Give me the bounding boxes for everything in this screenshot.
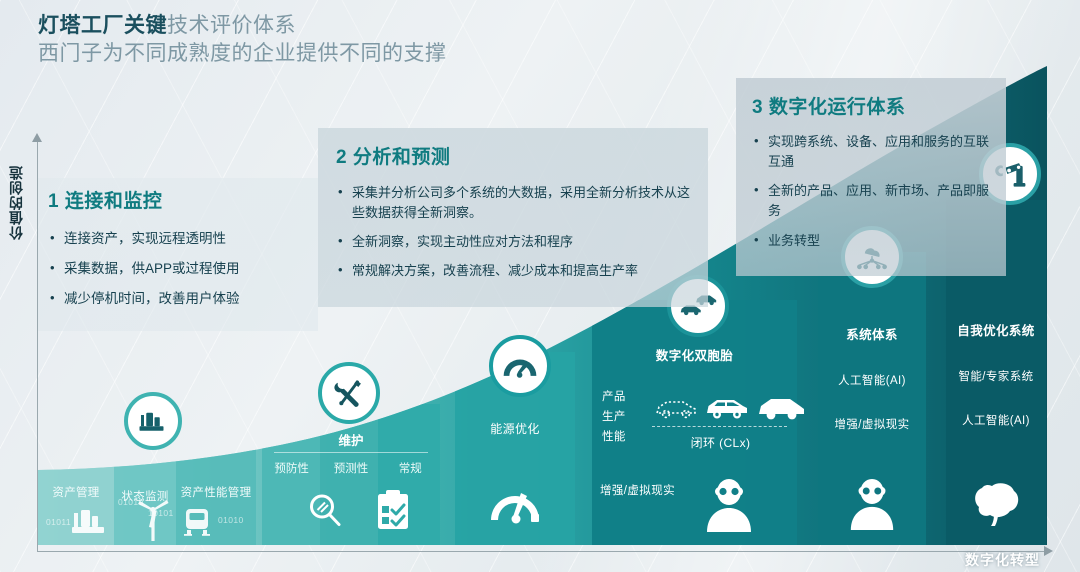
band-system-architecture: 系统体系 人工智能(AI) 增强/虚拟现实: [818, 252, 926, 546]
band-maintenance: 维护 预防性 预测性 常规: [262, 412, 440, 545]
band-title: 能源优化: [455, 420, 575, 437]
closed-loop-label: 闭环 (CLx): [650, 434, 791, 451]
band-condition-monitoring: 状态监测 01010: [114, 436, 176, 549]
stage-2-bullet-3: 常规解决方案，改善流程、减少成本和提高生产率: [336, 261, 692, 281]
stage-1-title: 1 连接和监控: [48, 186, 308, 213]
x-axis-arrow: [1044, 546, 1053, 556]
band-title: 系统体系: [818, 324, 926, 343]
x-axis-line: [37, 551, 1047, 552]
stage-3-bullets: 实现跨系统、设备、应用和服务的互联互通 全新的产品、应用、新市场、产品即服务 业…: [752, 132, 992, 251]
band-sub-routine: 常规: [381, 460, 440, 476]
stage-3-panel: 3 数字化运行体系 实现跨系统、设备、应用和服务的互联互通 全新的产品、应用、新…: [736, 78, 1006, 276]
band-asset-management: 资产管理 01011: [38, 432, 114, 545]
train-icon: [180, 505, 214, 539]
row-label-production: 生产: [602, 408, 646, 424]
car-solid-icon: [757, 394, 807, 422]
stage-2-panel: 2 分析和预测 采集并分析公司多个系统的大数据，采用全新分析技术从这些数据获得全…: [318, 128, 708, 307]
car-outline-icon: [704, 395, 750, 421]
y-axis-arrow: [32, 133, 42, 142]
band-asset-performance-management: 资产性能管理 01010: [176, 432, 256, 545]
band-sub-predictive: 预测性: [321, 460, 380, 476]
binary-decoration-extra: 10101: [148, 508, 174, 518]
stage-1-panel: 1 连接和监控 连接资产，实现远程透明性 采集数据，供APP或过程使用 减少停机…: [38, 178, 318, 331]
stage-1-bullet-3: 减少停机时间，改善用户体验: [48, 289, 308, 310]
stage-3-bullet-1: 实现跨系统、设备、应用和服务的互联互通: [752, 132, 992, 172]
row-label-product: 产品: [602, 388, 646, 404]
band-item-expert: 智能/专家系统: [946, 368, 1046, 384]
factory-icon: [138, 409, 168, 433]
stage-2-bullet-1: 采集并分析公司多个系统的大数据，采用全新分析技术从这些数据获得全新洞察。: [336, 183, 692, 223]
vr-person-icon: [846, 476, 898, 532]
band-item-ai: 人工智能(AI): [946, 412, 1046, 428]
row-label-performance: 性能: [602, 428, 646, 444]
stage-1-bullet-1: 连接资产，实现远程透明性: [48, 229, 308, 250]
band-title: 数字化双胞胎: [592, 345, 797, 364]
stage-2-bullet-2: 全新洞察，实现主动性应对方法和程序: [336, 232, 692, 252]
band-item-arvr: 增强/虚拟现实: [818, 416, 926, 432]
stage-3-title: 3 数字化运行体系: [752, 92, 992, 119]
binary-decoration: 01011: [46, 517, 71, 527]
band-item-ai: 人工智能(AI): [818, 372, 926, 388]
badge-maintenance-tools[interactable]: [318, 362, 380, 424]
clipboard-check-icon: [374, 489, 412, 531]
tools-icon: [332, 376, 366, 410]
stage-1-bullets: 连接资产，实现远程透明性 采集数据，供APP或过程使用 减少停机时间，改善用户体…: [48, 229, 308, 310]
gauge-icon: [487, 484, 543, 528]
stage-3-bullet-2: 全新的产品、应用、新市场、产品即服务: [752, 181, 992, 221]
band-label: 资产性能管理: [176, 484, 256, 500]
band-label: 资产管理: [38, 484, 114, 500]
badge-energy-gauge[interactable]: [489, 335, 551, 397]
car-wire-icon: [654, 396, 698, 420]
factory-icon: [70, 505, 110, 535]
divider: [274, 452, 428, 453]
ar-vr-label: 增强/虚拟现实: [600, 482, 692, 498]
divider: [652, 426, 787, 428]
band-title: 维护: [262, 430, 440, 449]
stage-2-bullets: 采集并分析公司多个系统的大数据，采用全新分析技术从这些数据获得全新洞察。 全新洞…: [336, 183, 692, 282]
wind-turbine-icon: [132, 495, 174, 543]
band-title: 自我优化系统: [946, 320, 1046, 339]
stage-1-bullet-2: 采集数据，供APP或过程使用: [48, 259, 308, 280]
binary-decoration: 01010: [218, 515, 244, 525]
magnifier-icon: [306, 491, 344, 529]
x-axis-label: 数字化转型: [965, 550, 1040, 570]
y-axis-label: 价值的创造: [6, 165, 28, 240]
vr-person-icon: [702, 476, 756, 534]
badge-factory[interactable]: [124, 392, 182, 450]
band-sub-preventive: 预防性: [262, 460, 321, 476]
gauge-icon: [502, 352, 538, 380]
stage-2-title: 2 分析和预测: [336, 142, 692, 169]
stage-3-bullet-3: 业务转型: [752, 231, 992, 251]
slide-canvas: 灯塔工厂关键技术评价体系 西门子为不同成熟度的企业提供不同的支撑: [0, 0, 1080, 572]
brain-icon: [970, 478, 1024, 528]
